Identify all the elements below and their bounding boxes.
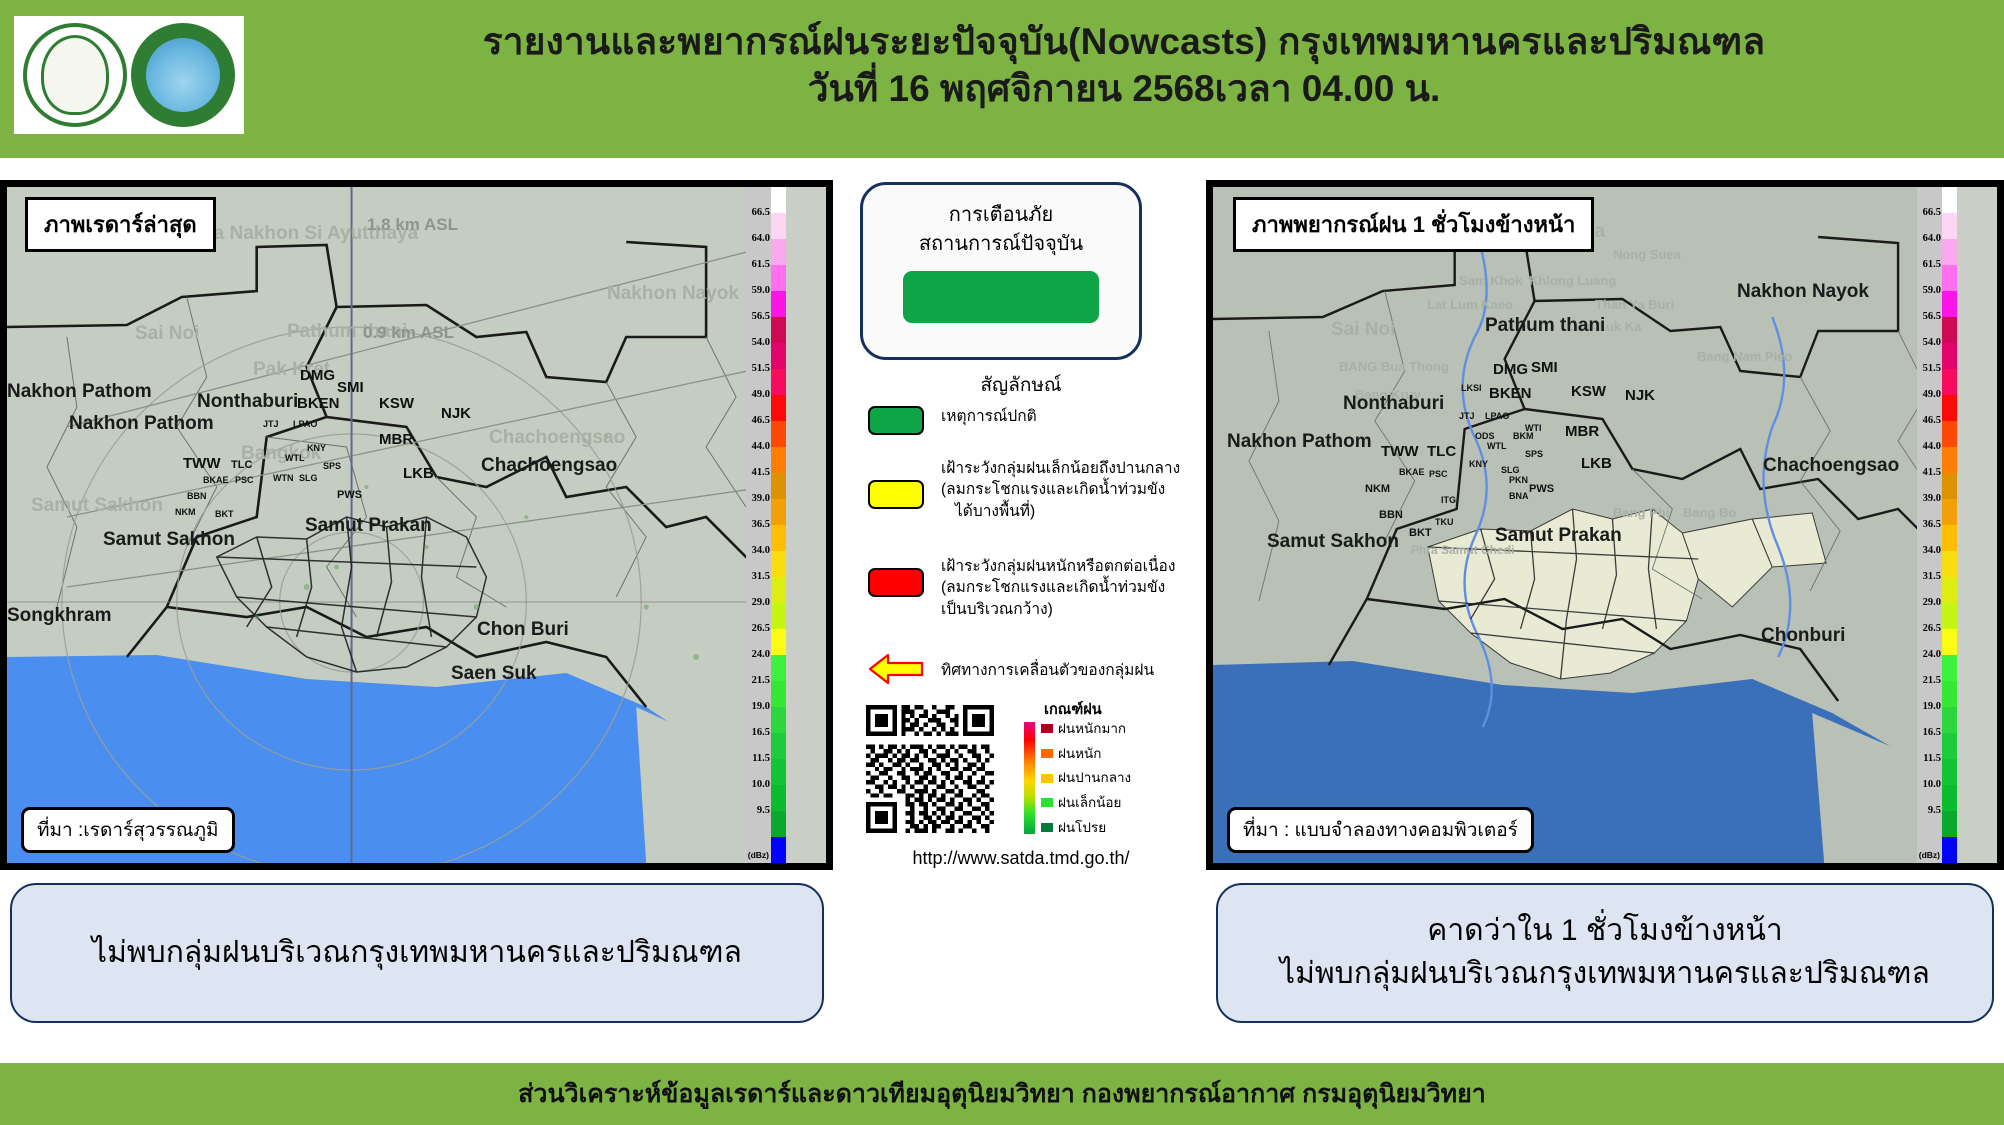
forecast-summary-line-1: คาดว่าใน 1 ชั่วโมงข้างหน้า bbox=[1427, 910, 1782, 953]
colorbar-tick: 61.5 bbox=[752, 260, 770, 271]
colorbar-tick: 51.5 bbox=[752, 364, 770, 375]
colorbar-cell bbox=[1942, 707, 1957, 733]
rain-scale-item: ฝนหนัก bbox=[1041, 747, 1131, 761]
colorbar-cell bbox=[771, 395, 786, 421]
forecast-map-graphic bbox=[1213, 187, 1957, 863]
page-header: รายงานและพยากรณ์ฝนระยะปัจจุบัน(Nowcasts)… bbox=[0, 0, 2004, 158]
colorbar-cell bbox=[1942, 369, 1957, 395]
colorbar-cell bbox=[1942, 577, 1957, 603]
forecast-summary-message: คาดว่าใน 1 ชั่วโมงข้างหน้า ไม่พบกลุ่มฝนบ… bbox=[1216, 883, 1994, 1023]
tmd-seal-icon bbox=[131, 23, 235, 127]
colorbar-cell bbox=[1942, 525, 1957, 551]
rain-swatch-light bbox=[1041, 798, 1053, 807]
legend-label-direction: ทิศทางการเคลื่อนตัวของกลุ่มฝน bbox=[941, 660, 1154, 681]
rain-scale-item: ฝนเล็กน้อย bbox=[1041, 796, 1131, 810]
colorbar-cell bbox=[771, 291, 786, 317]
colorbar-tick: 66.5 bbox=[752, 208, 770, 219]
colorbar-tick: 36.5 bbox=[1923, 520, 1941, 531]
nowcast-report-page: รายงานและพยากรณ์ฝนระยะปัจจุบัน(Nowcasts)… bbox=[0, 0, 2004, 1125]
colorbar-unit: (dBz) bbox=[748, 850, 769, 860]
colorbar-cell bbox=[1942, 213, 1957, 239]
center-legend-column: การเตือนภัย สถานการณ์ปัจจุบัน สัญลักษณ์ … bbox=[838, 170, 1204, 1060]
legend-item-watch-heavy: เฝ้าระวังกลุ่มฝนหนักหรือตกต่อเนื่อง (ลมก… bbox=[868, 556, 1175, 620]
rain-swatch-heavy bbox=[1041, 749, 1053, 758]
colorbar-cell bbox=[771, 733, 786, 759]
colorbar-cell bbox=[771, 499, 786, 525]
colorbar-cell bbox=[771, 707, 786, 733]
colorbar-tick: 11.5 bbox=[752, 754, 770, 765]
rain-scale-items: ฝนหนักมาก ฝนหนัก ฝนปานกลาง ฝนเล็กน้ bbox=[1041, 722, 1131, 834]
colorbar-cell bbox=[771, 317, 786, 343]
colorbar-cell bbox=[771, 577, 786, 603]
colorbar-cell bbox=[1942, 239, 1957, 265]
forecast-summary-line-2: ไม่พบกลุ่มฝนบริเวณกรุงเทพมหานครและปริมณฑ… bbox=[1280, 953, 1930, 996]
rain-label-light: ฝนเล็กน้อย bbox=[1058, 796, 1121, 810]
body-area: Suphan Buri Phra Nakhon Si Ayutthaya Nak… bbox=[0, 158, 2004, 1063]
rain-scale-item: ฝนปานกลาง bbox=[1041, 771, 1131, 785]
rain-swatch-very-heavy bbox=[1041, 724, 1053, 733]
colorbar-cell bbox=[771, 759, 786, 785]
colorbar-cell bbox=[771, 369, 786, 395]
colorbar-cell bbox=[1942, 265, 1957, 291]
colorbar-cell bbox=[771, 447, 786, 473]
title-line-1: รายงานและพยากรณ์ฝนระยะปัจจุบัน(Nowcasts)… bbox=[244, 18, 2004, 65]
colorbar-tick: 26.5 bbox=[752, 624, 770, 635]
colorbar-tick: 29.0 bbox=[1923, 598, 1941, 609]
warning-card-title-1: การเตือนภัย bbox=[949, 201, 1054, 230]
radar-map-graphic bbox=[7, 187, 786, 863]
colorbar-cell bbox=[1942, 759, 1957, 785]
forecast-map-title-tag: ภาพพยากรณ์ฝน 1 ชั่วโมงข้างหน้า bbox=[1233, 197, 1594, 252]
colorbar-tick: 66.5 bbox=[1923, 208, 1941, 219]
qr-code-graphic bbox=[866, 705, 994, 833]
legend-item-normal: เหตุการณ์ปกติ bbox=[868, 406, 1037, 435]
colorbar-tick: 31.5 bbox=[752, 572, 770, 583]
rain-intensity-scale: เกณฑ์ฝน ฝนหนักมาก ฝนหนัก bbox=[1020, 698, 1170, 834]
colorbar-tick: 41.5 bbox=[1923, 468, 1941, 479]
colorbar-ticks-right: 66.564.061.559.056.554.051.549.046.544.0… bbox=[1917, 187, 1942, 863]
radar-summary-line-1: ไม่พบกลุ่มฝนบริเวณกรุงเทพมหานครและปริมณฑ… bbox=[92, 932, 742, 975]
title-line-2: วันที่ 16 พฤศจิกายน 2568เวลา 04.00 น. bbox=[244, 65, 2004, 112]
qr-code-icon[interactable] bbox=[866, 705, 994, 833]
rain-label-drizzle: ฝนโปรย bbox=[1058, 821, 1106, 835]
rain-scale-item: ฝนหนักมาก bbox=[1041, 722, 1131, 736]
colorbar-tick: 54.0 bbox=[752, 338, 770, 349]
warning-card-title-2: สถานการณ์ปัจจุบัน bbox=[919, 230, 1083, 259]
warning-status-card: การเตือนภัย สถานการณ์ปัจจุบัน bbox=[860, 182, 1142, 360]
colorbar-tick: 34.0 bbox=[752, 546, 770, 557]
rain-label-moderate: ฝนปานกลาง bbox=[1058, 771, 1131, 785]
colorbar-tick: 36.5 bbox=[752, 520, 770, 531]
colorbar-cell bbox=[771, 421, 786, 447]
colorbar-cell bbox=[771, 551, 786, 577]
colorbar-tick: 56.5 bbox=[752, 312, 770, 323]
colorbar-cell bbox=[1942, 343, 1957, 369]
radar-colorbar-left: 66.564.061.559.056.554.051.549.046.544.0… bbox=[746, 187, 786, 863]
colorbar-cell bbox=[1942, 499, 1957, 525]
colorbar-tick: 31.5 bbox=[1923, 572, 1941, 583]
radar-colorbar-right: 66.564.061.559.056.554.051.549.046.544.0… bbox=[1917, 187, 1957, 863]
colorbar-tick: 21.5 bbox=[1923, 676, 1941, 687]
legend-heading: สัญลักษณ์ bbox=[838, 370, 1204, 400]
colorbar-tick: 16.5 bbox=[1923, 728, 1941, 739]
colorbar-cell bbox=[771, 239, 786, 265]
colorbar-tick: 10.0 bbox=[752, 780, 770, 791]
colorbar-cell bbox=[1942, 785, 1957, 811]
colorbar-cell bbox=[1942, 291, 1957, 317]
colorbar-tick: 49.0 bbox=[1923, 390, 1941, 401]
colorbar-cell bbox=[771, 343, 786, 369]
legend-swatch-red bbox=[868, 568, 924, 597]
colorbar-cell bbox=[771, 785, 786, 811]
colorbar-cell bbox=[1942, 317, 1957, 343]
colorbar-tick: 56.5 bbox=[1923, 312, 1941, 323]
footer-text: ส่วนวิเคราะห์ข้อมูลเรดาร์และดาวเทียมอุตุ… bbox=[518, 1074, 1486, 1114]
colorbar-tick: 19.0 bbox=[1923, 702, 1941, 713]
colorbar-cell bbox=[1942, 811, 1957, 837]
legend-item-direction: ทิศทางการเคลื่อนตัวของกลุ่มฝน bbox=[868, 652, 1154, 686]
arrow-left-icon bbox=[868, 652, 924, 686]
colorbar-tick: 24.0 bbox=[1923, 650, 1941, 661]
forecast-map-panel[interactable]: Suphan Buri Phra Nakhon Si Ayutthaya Non… bbox=[1206, 180, 2004, 870]
rain-scale-title: เกณฑ์ฝน bbox=[1044, 698, 1170, 721]
status-badge bbox=[903, 271, 1099, 323]
colorbar-tick: 11.5 bbox=[1923, 754, 1941, 765]
legend-yellow-line-2: (ลมกระโชกแรงและเกิดน้ำท่วมขัง bbox=[941, 479, 1180, 500]
rain-swatch-drizzle bbox=[1041, 823, 1053, 832]
legend-swatch-yellow bbox=[868, 480, 924, 509]
colorbar-strip-right bbox=[1942, 187, 1957, 863]
colorbar-tick: 9.5 bbox=[1928, 806, 1941, 817]
radar-map-source-tag: ที่มา :เรดาร์สุวรรณภูมิ bbox=[21, 807, 235, 853]
legend-red-line-2: (ลมกระโชกแรงและเกิดน้ำท่วมขัง bbox=[941, 577, 1175, 598]
colorbar-cell bbox=[771, 603, 786, 629]
colorbar-cell bbox=[771, 681, 786, 707]
logo-group bbox=[14, 16, 244, 134]
colorbar-cell bbox=[771, 811, 786, 837]
colorbar-tick: 64.0 bbox=[752, 234, 770, 245]
colorbar-cell bbox=[1942, 655, 1957, 681]
legend-swatch-green bbox=[868, 406, 924, 435]
rain-scale-gradient-bar bbox=[1024, 722, 1035, 834]
colorbar-cell bbox=[1942, 473, 1957, 499]
legend-yellow-line-3: ได้บางพื้นที่) bbox=[941, 501, 1180, 522]
radar-map-title-tag: ภาพเรดาร์ล่าสุด bbox=[25, 197, 216, 252]
colorbar-tick: 34.0 bbox=[1923, 546, 1941, 557]
legend-red-line-3: เป็นบริเวณกว้าง) bbox=[941, 599, 1175, 620]
colorbar-cell bbox=[771, 187, 786, 213]
colorbar-tick: 46.5 bbox=[752, 416, 770, 427]
rain-scale-item: ฝนโปรย bbox=[1041, 821, 1131, 835]
colorbar-tick: 46.5 bbox=[1923, 416, 1941, 427]
colorbar-cell bbox=[771, 265, 786, 291]
colorbar-cell bbox=[1942, 681, 1957, 707]
colorbar-cell bbox=[1942, 447, 1957, 473]
colorbar-tick: 59.0 bbox=[752, 286, 770, 297]
rain-label-very-heavy: ฝนหนักมาก bbox=[1058, 722, 1126, 736]
colorbar-cell bbox=[1942, 629, 1957, 655]
colorbar-tick: 26.5 bbox=[1923, 624, 1941, 635]
colorbar-tick: 59.0 bbox=[1923, 286, 1941, 297]
colorbar-cell bbox=[771, 655, 786, 681]
radar-map-canvas[interactable]: Suphan Buri Phra Nakhon Si Ayutthaya Nak… bbox=[7, 187, 786, 863]
colorbar-ticks-left: 66.564.061.559.056.554.051.549.046.544.0… bbox=[746, 187, 771, 863]
legend-label-normal: เหตุการณ์ปกติ bbox=[941, 406, 1037, 427]
colorbar-tick: 16.5 bbox=[752, 728, 770, 739]
forecast-map-canvas[interactable]: Suphan Buri Phra Nakhon Si Ayutthaya Non… bbox=[1213, 187, 1957, 863]
department-seal-icon bbox=[23, 23, 127, 127]
colorbar-tick: 41.5 bbox=[752, 468, 770, 479]
page-footer: ส่วนวิเคราะห์ข้อมูลเรดาร์และดาวเทียมอุตุ… bbox=[0, 1063, 2004, 1125]
radar-summary-message: ไม่พบกลุ่มฝนบริเวณกรุงเทพมหานครและปริมณฑ… bbox=[10, 883, 824, 1023]
legend-red-line-1: เฝ้าระวังกลุ่มฝนหนักหรือตกต่อเนื่อง bbox=[941, 556, 1175, 577]
colorbar-unit: (dBz) bbox=[1919, 850, 1940, 860]
colorbar-cell bbox=[771, 213, 786, 239]
colorbar-cell bbox=[771, 525, 786, 551]
colorbar-cell bbox=[1942, 395, 1957, 421]
colorbar-strip-left bbox=[771, 187, 786, 863]
colorbar-cell bbox=[1942, 187, 1957, 213]
forecast-map-source-tag: ที่มา : แบบจำลองทางคอมพิวเตอร์ bbox=[1227, 807, 1534, 853]
colorbar-tick: 61.5 bbox=[1923, 260, 1941, 271]
colorbar-cell bbox=[771, 629, 786, 655]
colorbar-tick: 39.0 bbox=[752, 494, 770, 505]
page-title: รายงานและพยากรณ์ฝนระยะปัจจุบัน(Nowcasts)… bbox=[244, 18, 2004, 113]
legend-label-watch-light: เฝ้าระวังกลุ่มฝนเล็กน้อยถึงปานกลาง (ลมกร… bbox=[941, 458, 1180, 522]
colorbar-tick: 54.0 bbox=[1923, 338, 1941, 349]
colorbar-tick: 44.0 bbox=[1923, 442, 1941, 453]
colorbar-tick: 39.0 bbox=[1923, 494, 1941, 505]
colorbar-cell bbox=[771, 473, 786, 499]
colorbar-tick: 21.5 bbox=[752, 676, 770, 687]
rain-scale-body: ฝนหนักมาก ฝนหนัก ฝนปานกลาง ฝนเล็กน้ bbox=[1020, 722, 1170, 834]
colorbar-tick: 24.0 bbox=[752, 650, 770, 661]
rain-swatch-moderate bbox=[1041, 774, 1053, 783]
colorbar-cell bbox=[1942, 733, 1957, 759]
legend-item-watch-light: เฝ้าระวังกลุ่มฝนเล็กน้อยถึงปานกลาง (ลมกร… bbox=[868, 458, 1180, 522]
colorbar-cell bbox=[771, 837, 786, 863]
legend-label-watch-heavy: เฝ้าระวังกลุ่มฝนหนักหรือตกต่อเนื่อง (ลมก… bbox=[941, 556, 1175, 620]
colorbar-tick: 64.0 bbox=[1923, 234, 1941, 245]
colorbar-tick: 10.0 bbox=[1923, 780, 1941, 791]
colorbar-cell bbox=[1942, 603, 1957, 629]
colorbar-tick: 44.0 bbox=[752, 442, 770, 453]
rain-label-heavy: ฝนหนัก bbox=[1058, 747, 1101, 761]
colorbar-cell bbox=[1942, 551, 1957, 577]
colorbar-tick: 49.0 bbox=[752, 390, 770, 401]
colorbar-tick: 19.0 bbox=[752, 702, 770, 713]
colorbar-cell bbox=[1942, 837, 1957, 863]
colorbar-tick: 29.0 bbox=[752, 598, 770, 609]
colorbar-tick: 9.5 bbox=[757, 806, 770, 817]
website-url[interactable]: http://www.satda.tmd.go.th/ bbox=[838, 848, 1204, 869]
radar-map-panel[interactable]: Suphan Buri Phra Nakhon Si Ayutthaya Nak… bbox=[0, 180, 833, 870]
legend-yellow-line-1: เฝ้าระวังกลุ่มฝนเล็กน้อยถึงปานกลาง bbox=[941, 458, 1180, 479]
colorbar-tick: 51.5 bbox=[1923, 364, 1941, 375]
colorbar-cell bbox=[1942, 421, 1957, 447]
